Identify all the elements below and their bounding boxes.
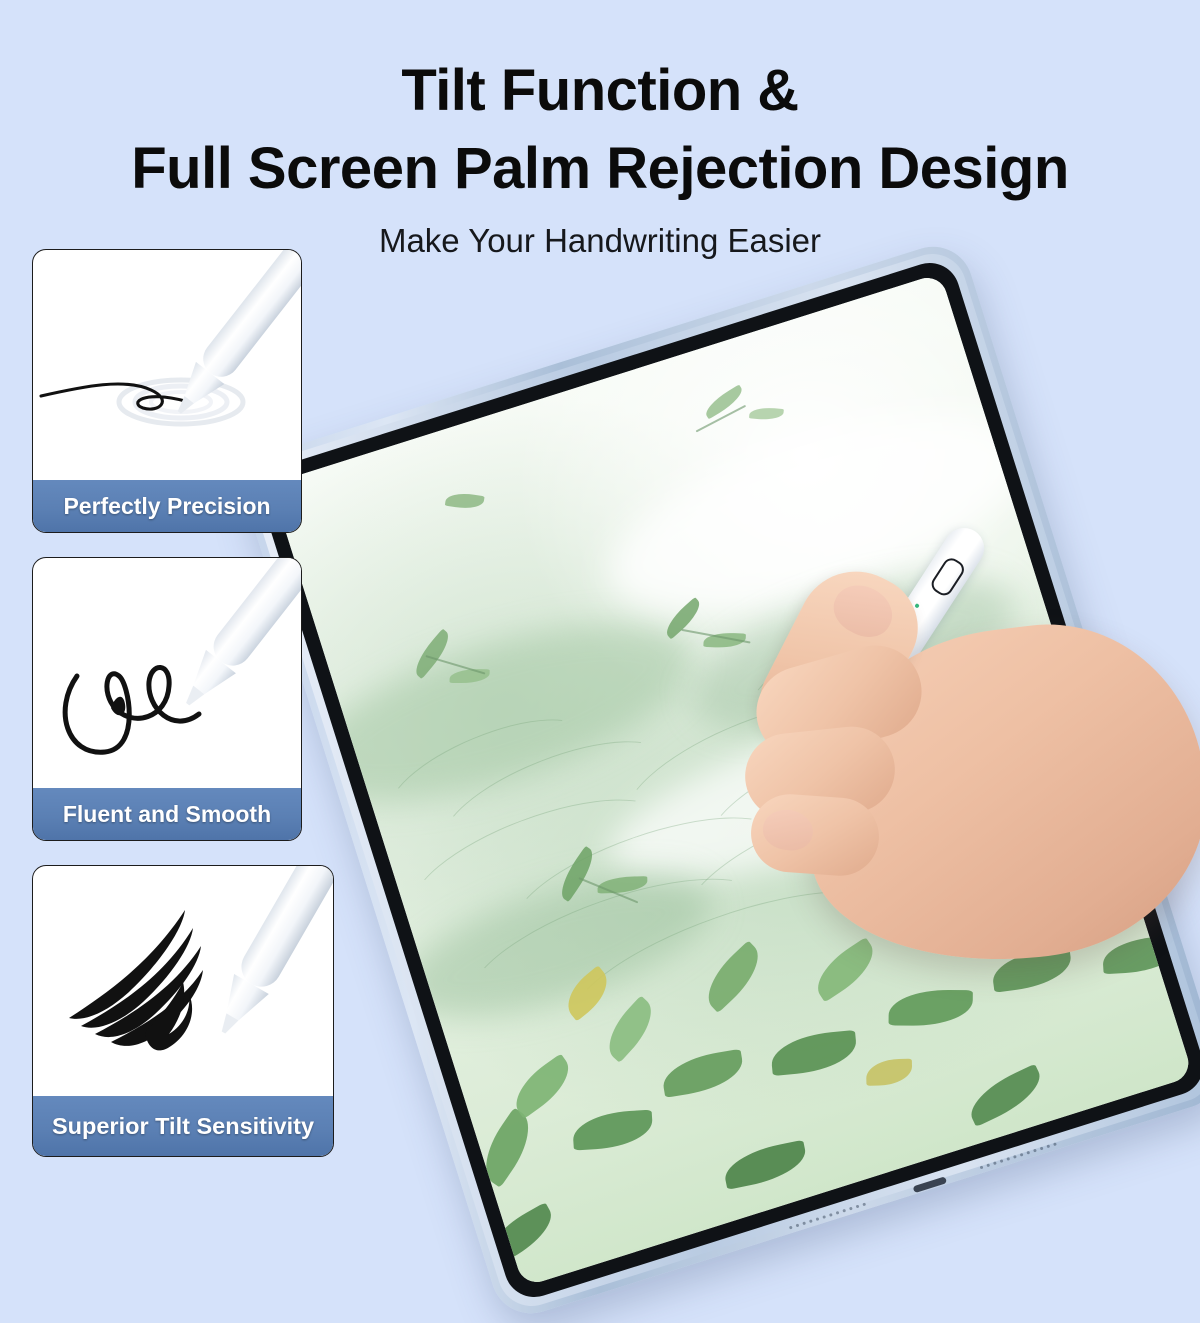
feature-card-label: Fluent and Smooth	[33, 788, 301, 840]
foliage-leaf	[659, 1049, 746, 1098]
hand-holding-stylus	[745, 560, 1200, 1030]
foliage-leaf	[571, 1109, 653, 1150]
foliage-leaf-yellow	[866, 1059, 913, 1086]
feature-card-fluent-and-smooth[interactable]: Fluent and Smooth	[32, 557, 302, 841]
foliage-leaf	[962, 1064, 1048, 1127]
foliage-leaf	[721, 1140, 810, 1190]
thumb-nail	[826, 576, 901, 646]
foliage-leaf	[597, 996, 662, 1063]
feature-card-label: Perfectly Precision	[33, 480, 301, 532]
feature-card-label: Superior Tilt Sensitivity	[33, 1096, 333, 1156]
foliage-leaf	[769, 1030, 858, 1076]
foliage-leaf	[506, 1053, 580, 1119]
feature-card-list: Perfectly Precision Fluent and	[32, 249, 332, 1181]
feature-card-superior-tilt-sensitivity[interactable]: Superior Tilt Sensitivity	[32, 865, 334, 1157]
foliage-leaf	[473, 1107, 543, 1187]
feature-card-perfectly-precision[interactable]: Perfectly Precision	[32, 249, 302, 533]
foliage-leaf-yellow	[558, 965, 617, 1021]
